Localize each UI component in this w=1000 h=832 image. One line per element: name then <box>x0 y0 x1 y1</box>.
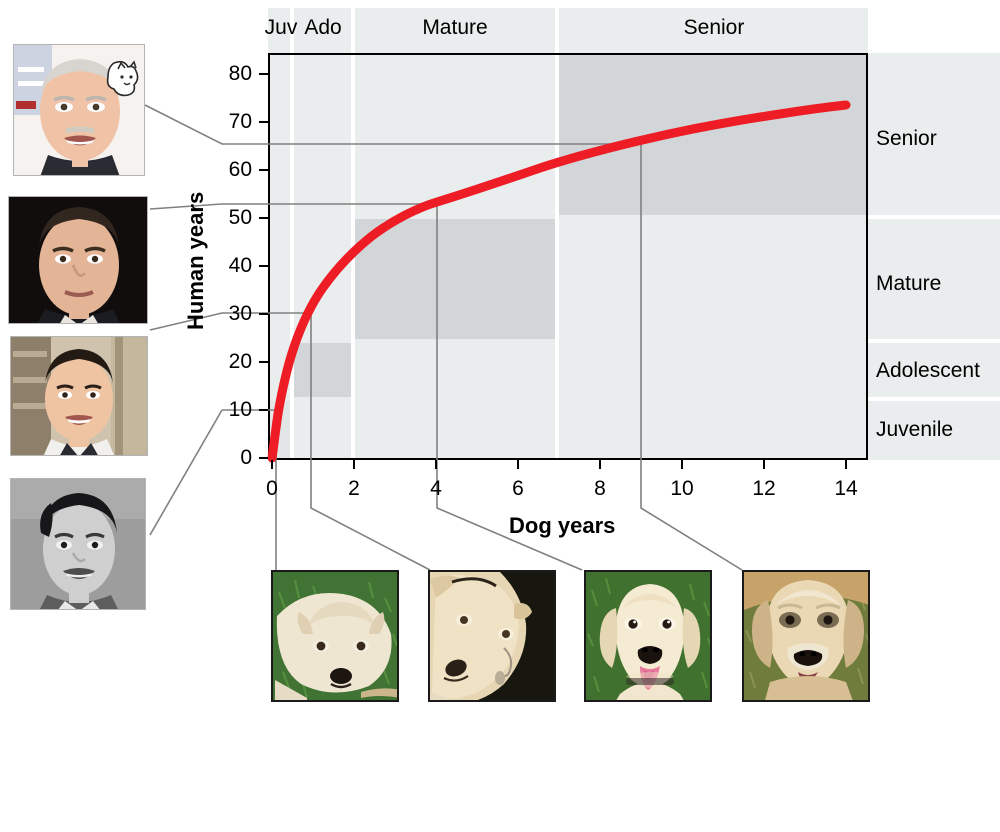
x-tick-2 <box>353 460 355 469</box>
y-tick-label-20: 20 <box>208 350 252 374</box>
y-tick-70 <box>259 121 268 123</box>
y-tick-label-70: 70 <box>208 110 252 134</box>
dog-senior-photo[interactable] <box>742 570 870 702</box>
x-tick-0 <box>271 460 273 469</box>
y-tick-label-0: 0 <box>208 446 252 470</box>
y-axis-title: Human years <box>183 192 209 330</box>
x-tick-label-2: 2 <box>334 477 374 501</box>
y-tick-label-10: 10 <box>208 398 252 422</box>
y-tick-20 <box>259 361 268 363</box>
y-tick-60 <box>259 169 268 171</box>
y-tick-10 <box>259 409 268 411</box>
right-band-label-senior: Senior <box>876 127 937 151</box>
callout-guides <box>222 144 641 460</box>
right-band-label-adolescent: Adolescent <box>876 359 980 383</box>
dog-mature-photo[interactable] <box>584 570 712 702</box>
x-tick-label-6: 6 <box>498 477 538 501</box>
x-tick-label-8: 8 <box>580 477 620 501</box>
x-axis-title: Dog years <box>509 513 615 539</box>
right-band-label-juvenile: Juvenile <box>876 418 953 442</box>
right-band-label-mature: Mature <box>876 272 941 296</box>
x-tick-6 <box>517 460 519 469</box>
x-tick-4 <box>435 460 437 469</box>
y-tick-label-30: 30 <box>208 302 252 326</box>
x-tick-label-14: 14 <box>826 477 866 501</box>
y-tick-label-60: 60 <box>208 158 252 182</box>
x-tick-10 <box>681 460 683 469</box>
x-tick-8 <box>599 460 601 469</box>
dog-adolescent-photo[interactable] <box>428 570 556 702</box>
top-band-label-mature: Mature <box>410 16 500 40</box>
y-tick-40 <box>259 265 268 267</box>
dog-puppy-photo[interactable] <box>271 570 399 702</box>
human-adolescent-photo[interactable] <box>10 336 148 456</box>
x-tick-12 <box>763 460 765 469</box>
x-tick-label-4: 4 <box>416 477 456 501</box>
x-tick-14 <box>845 460 847 469</box>
y-tick-80 <box>259 73 268 75</box>
top-band-label-senior: Senior <box>669 16 759 40</box>
top-band-label-adolescent: Ado <box>288 16 358 40</box>
y-tick-label-50: 50 <box>208 206 252 230</box>
dog-to-human-age-curve <box>272 105 846 458</box>
y-tick-label-80: 80 <box>208 62 252 86</box>
y-tick-0 <box>259 457 268 459</box>
x-tick-label-10: 10 <box>662 477 702 501</box>
y-tick-30 <box>259 313 268 315</box>
x-tick-label-0: 0 <box>252 477 292 501</box>
overlay-lines <box>0 0 1000 832</box>
y-tick-50 <box>259 217 268 219</box>
human-senior-photo[interactable] <box>13 44 145 176</box>
x-tick-label-12: 12 <box>744 477 784 501</box>
y-tick-label-40: 40 <box>208 254 252 278</box>
human-juvenile-photo[interactable] <box>10 478 146 610</box>
human-mature-photo[interactable] <box>8 196 148 324</box>
figure-canvas: 0 2 4 6 8 10 12 14 80 70 60 50 40 30 20 … <box>0 0 1000 832</box>
